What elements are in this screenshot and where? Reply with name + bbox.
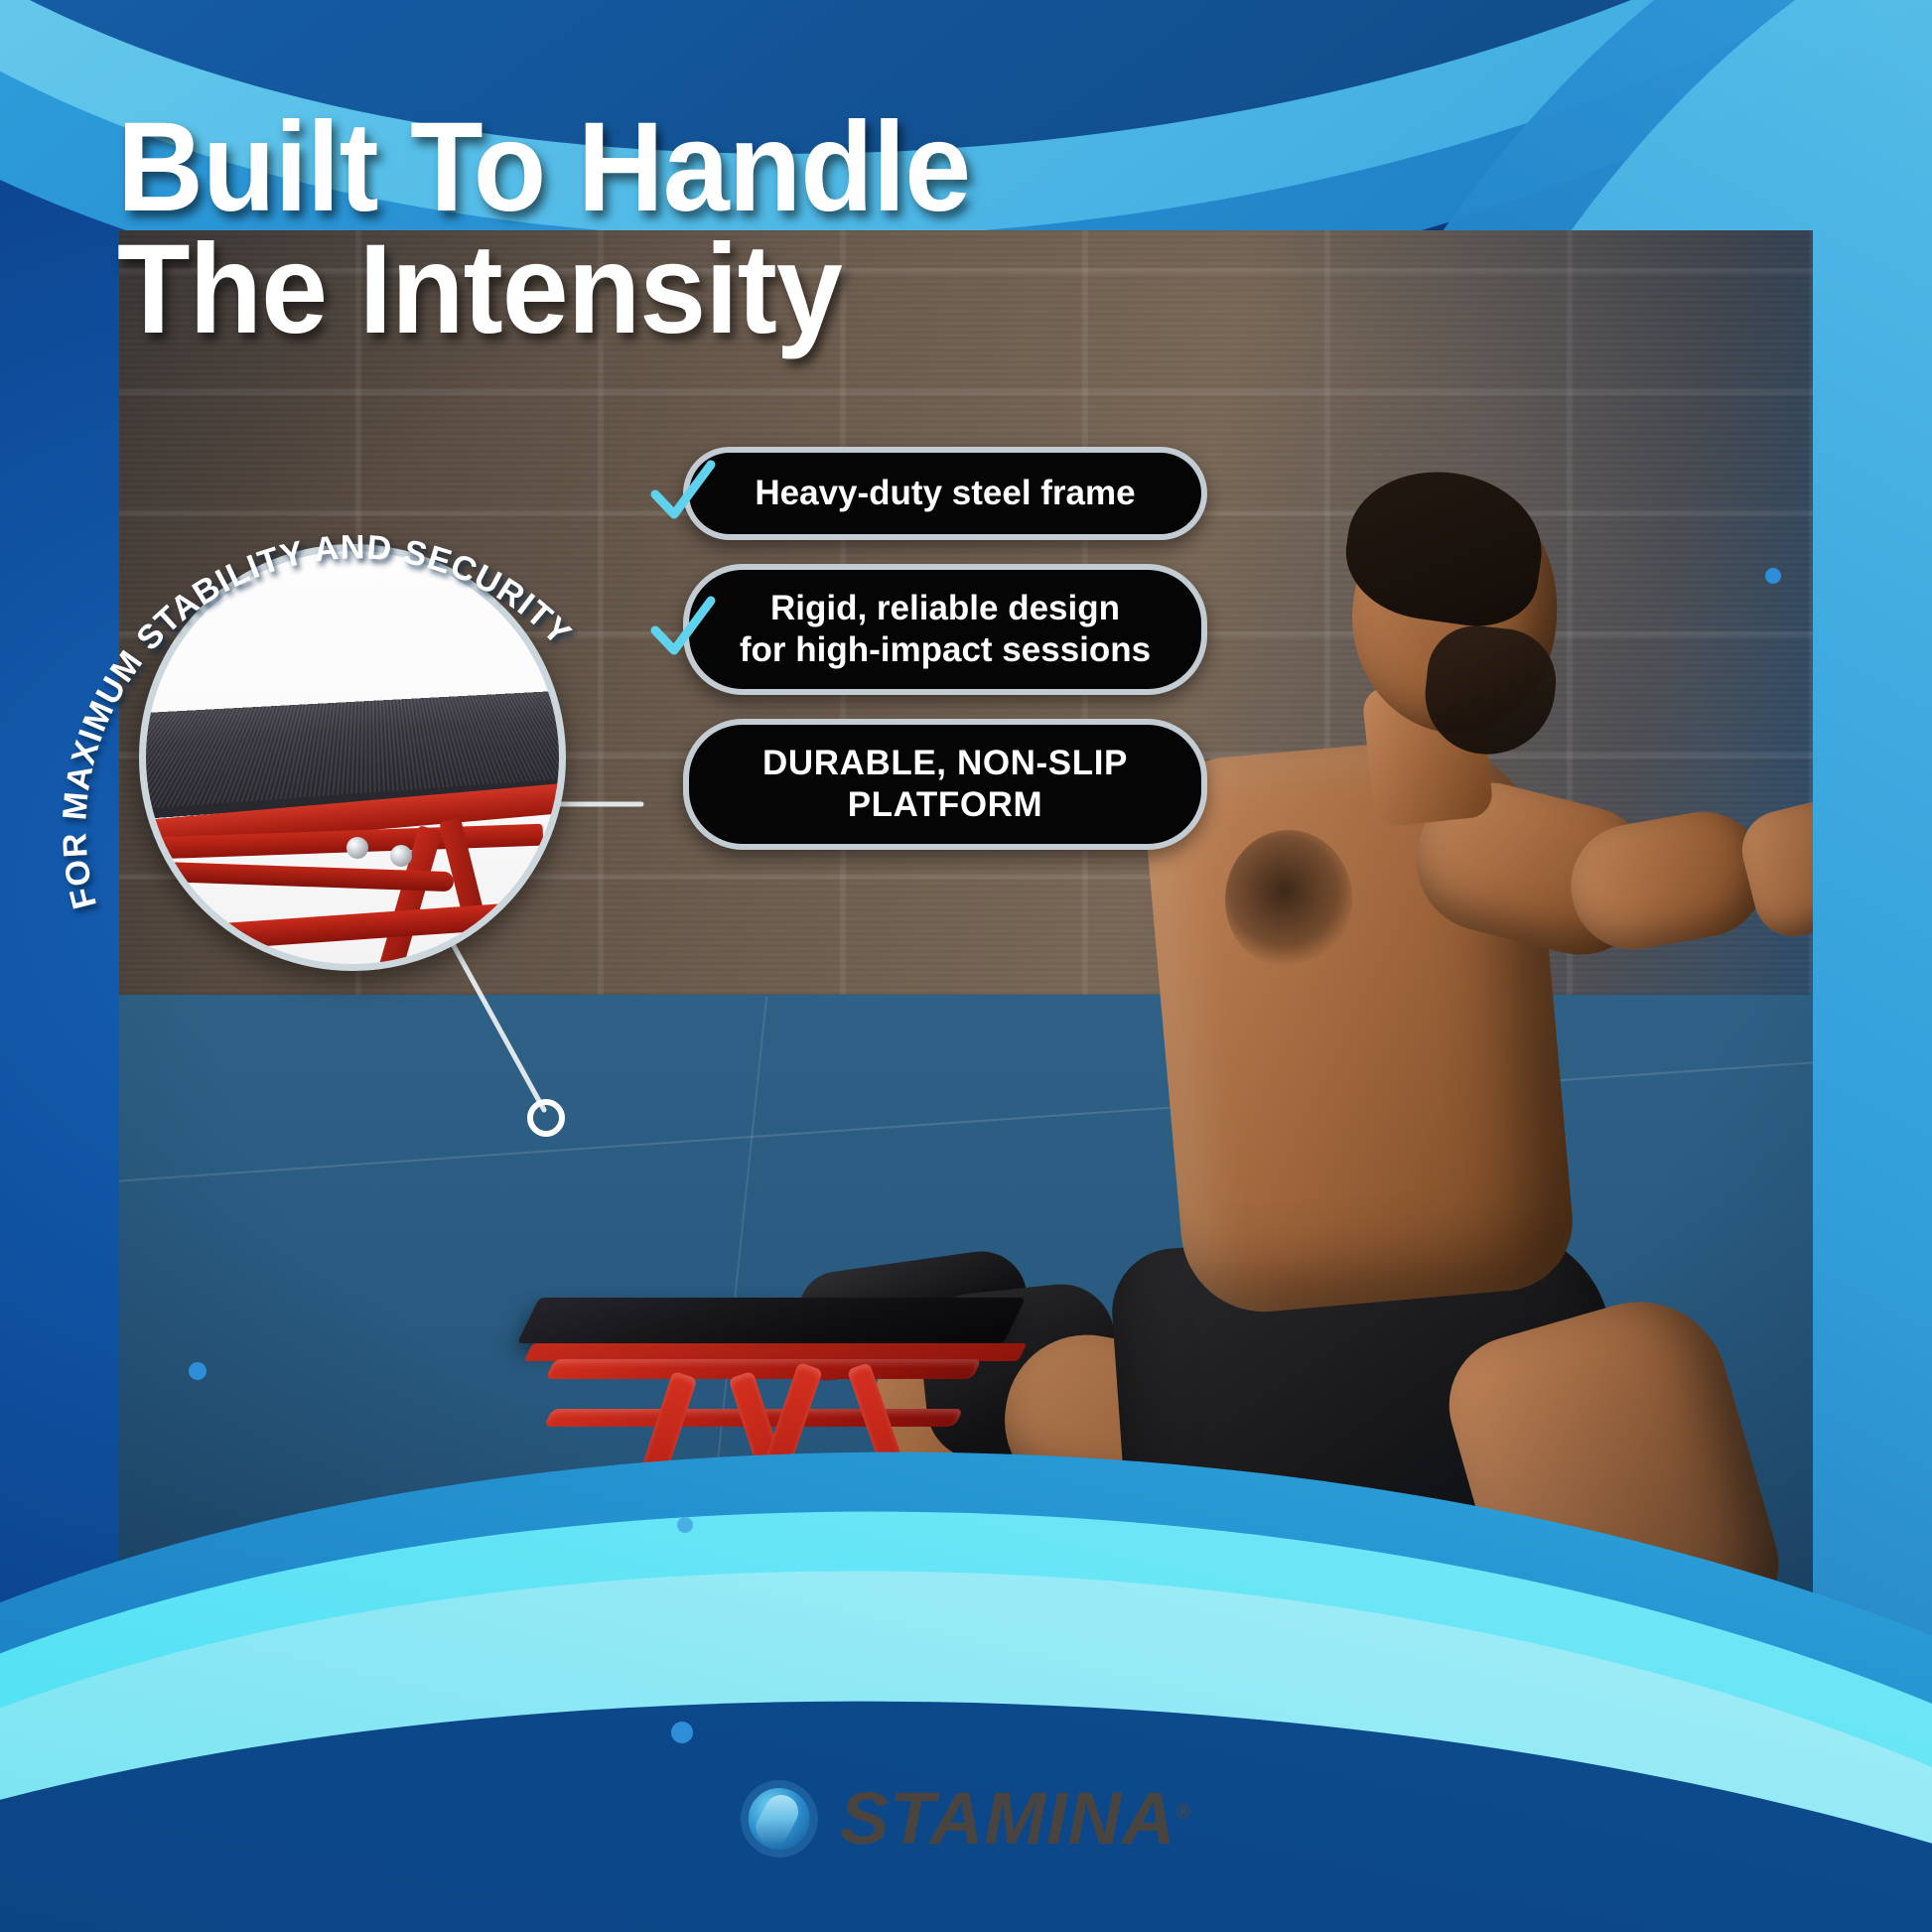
promo-canvas: STAMINA Built To Handle The Intensity <box>0 0 1932 1932</box>
stamina-mark-icon <box>741 1780 818 1858</box>
feature-row-2: Rigid, reliable design for high-impact s… <box>641 564 1207 695</box>
feature-pill-rigid-reliable-design[interactable]: Rigid, reliable design for high-impact s… <box>683 564 1207 695</box>
brand-name: STAMINA® <box>840 1776 1191 1861</box>
decorative-dot <box>189 1362 207 1380</box>
checkmark-icon <box>641 589 723 670</box>
feature-list: Heavy-duty steel frame Rigid, reliable d… <box>641 447 1207 874</box>
feature-text-line: Heavy-duty steel frame <box>723 473 1168 514</box>
feature-text-line: Rigid, reliable design <box>719 588 1172 629</box>
magnifier-callout <box>139 544 566 971</box>
feature-text-line: DURABLE, NON-SLIP <box>719 743 1172 784</box>
headline-line-2: The Intensity <box>117 229 1163 351</box>
brand-name-text: STAMINA <box>840 1777 1176 1860</box>
feature-row-1: Heavy-duty steel frame <box>641 447 1207 540</box>
decorative-dot <box>1765 568 1781 584</box>
page-title: Built To Handle The Intensity <box>117 107 1229 351</box>
headline-line-1: Built To Handle <box>117 107 1163 229</box>
feature-text-line: for high-impact sessions <box>719 629 1172 671</box>
trademark-symbol: ® <box>1175 1801 1191 1823</box>
magnified-frame-base <box>139 898 566 957</box>
decorative-dot <box>671 1722 693 1743</box>
checkmark-icon <box>641 453 723 534</box>
feature-pill-heavy-duty-steel-frame[interactable]: Heavy-duty steel frame <box>683 447 1207 540</box>
magnified-bolt-2 <box>390 845 412 867</box>
brand-logo: STAMINA® <box>741 1776 1191 1861</box>
magnified-bolt-1 <box>346 837 368 859</box>
feature-pill-durable-non-slip-platform[interactable]: DURABLE, NON-SLIP PLATFORM <box>683 719 1207 850</box>
magnifier-circle <box>139 544 566 971</box>
decorative-dot <box>677 1517 693 1533</box>
feature-row-3: DURABLE, NON-SLIP PLATFORM <box>641 719 1207 850</box>
feature-text-line: PLATFORM <box>719 784 1172 826</box>
